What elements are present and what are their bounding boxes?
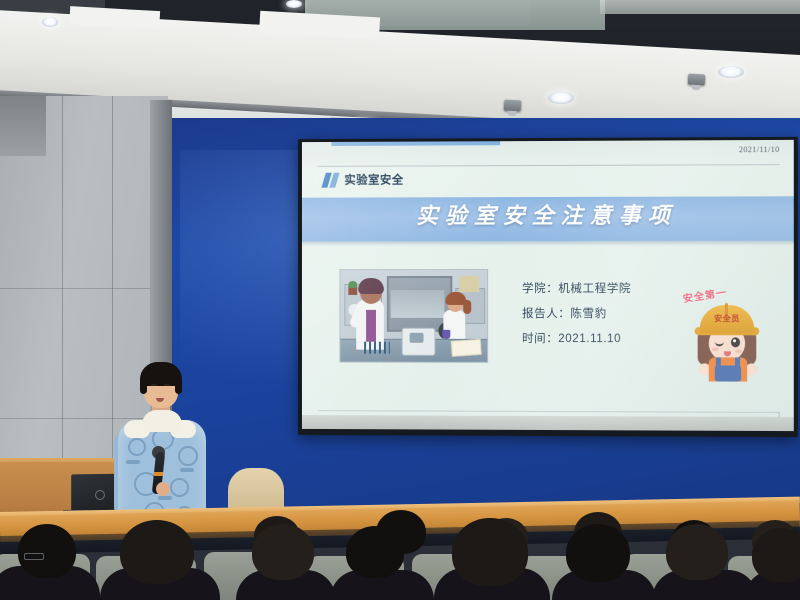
slide-footer-rule xyxy=(318,410,780,413)
audience-head xyxy=(452,518,528,586)
audience-area xyxy=(0,500,800,600)
illustration-cup xyxy=(442,330,450,339)
mascot-helmet-label: 安全员 xyxy=(705,313,749,324)
illustration-scientist-1-shirt xyxy=(366,310,376,342)
audience-head xyxy=(752,528,800,582)
presenter-hood-collar xyxy=(142,410,182,432)
slide-info-college: 学院：机械工程学院 xyxy=(522,277,703,302)
presenter-hair-left xyxy=(140,376,147,394)
projection-screen-surface: 2021/11/10 实验室安全 实验室安全注意事项 xyxy=(302,140,794,431)
slide-top-accent xyxy=(332,141,501,146)
presenter-hair-right xyxy=(175,376,182,394)
wall-seam xyxy=(0,288,168,289)
presenter-eye-left xyxy=(151,384,157,386)
slide-title-band-shadow xyxy=(302,241,794,247)
slide-bars-icon xyxy=(324,172,338,187)
ceiling-downlight-icon xyxy=(286,0,302,8)
illustration-test-tubes xyxy=(364,342,390,354)
ceiling-spotlight-icon xyxy=(504,100,522,112)
microphone-band xyxy=(154,472,163,476)
ceiling-glass-panel-2 xyxy=(600,0,800,14)
audience-head xyxy=(252,524,314,580)
ceiling-downlight-icon xyxy=(42,17,58,27)
mascot-overalls xyxy=(715,365,741,381)
presenter-eye-right xyxy=(164,384,170,386)
ceiling-downlight-icon xyxy=(718,66,744,78)
audience-head xyxy=(346,526,404,578)
slide-kicker: 实验室安全 xyxy=(324,172,404,188)
ceiling-downlight-icon xyxy=(548,92,574,104)
projection-screen: 2021/11/10 实验室安全 实验室安全注意事项 xyxy=(298,137,798,437)
audience-glasses-icon xyxy=(24,553,44,560)
audience-head xyxy=(120,520,194,584)
mascot-cheek-right xyxy=(735,349,742,353)
slide-date: 2021/11/10 xyxy=(739,145,780,154)
illustration-poster xyxy=(459,276,479,292)
presentation-slide: 2021/11/10 实验室安全 实验室安全注意事项 xyxy=(302,140,794,431)
audience-head xyxy=(666,524,728,580)
slide-info-presenter: 报告人：陈雪豹 xyxy=(522,302,703,327)
illustration-scientist-1-hair xyxy=(358,278,384,294)
illustration-plant xyxy=(348,287,357,295)
illustration-papers xyxy=(451,339,482,357)
soffit-notch xyxy=(69,6,160,29)
illustration-fume-hood-glass xyxy=(391,290,445,318)
presenter-hand xyxy=(156,482,170,496)
illustration-scientist-2-hair-top xyxy=(445,292,466,305)
slide-kicker-label: 实验室安全 xyxy=(344,172,403,188)
mascot-cheek-left xyxy=(712,347,719,351)
mascot-eye-open xyxy=(731,337,740,347)
audience-head xyxy=(566,524,630,582)
gray-wall-shadow xyxy=(0,96,46,156)
safety-mascot: 安全第一 安全员 xyxy=(685,283,772,380)
lecture-hall-photo: 2021/11/10 实验室安全 实验室安全注意事项 xyxy=(0,0,800,600)
slide-info-date: 时间：2021.11.10 xyxy=(522,327,703,352)
mascot-slogan: 安全第一 xyxy=(682,284,728,306)
lab-illustration xyxy=(339,269,488,363)
slide-title: 实验室安全注意事项 xyxy=(302,197,794,230)
screen-bottom-band xyxy=(302,415,794,431)
ceiling-spotlight-icon xyxy=(688,74,706,86)
illustration-machine-window xyxy=(410,333,424,343)
audience-head xyxy=(18,524,76,578)
slide-info-block: 学院：机械工程学院 报告人：陈雪豹 时间：2021.11.10 xyxy=(522,277,703,352)
